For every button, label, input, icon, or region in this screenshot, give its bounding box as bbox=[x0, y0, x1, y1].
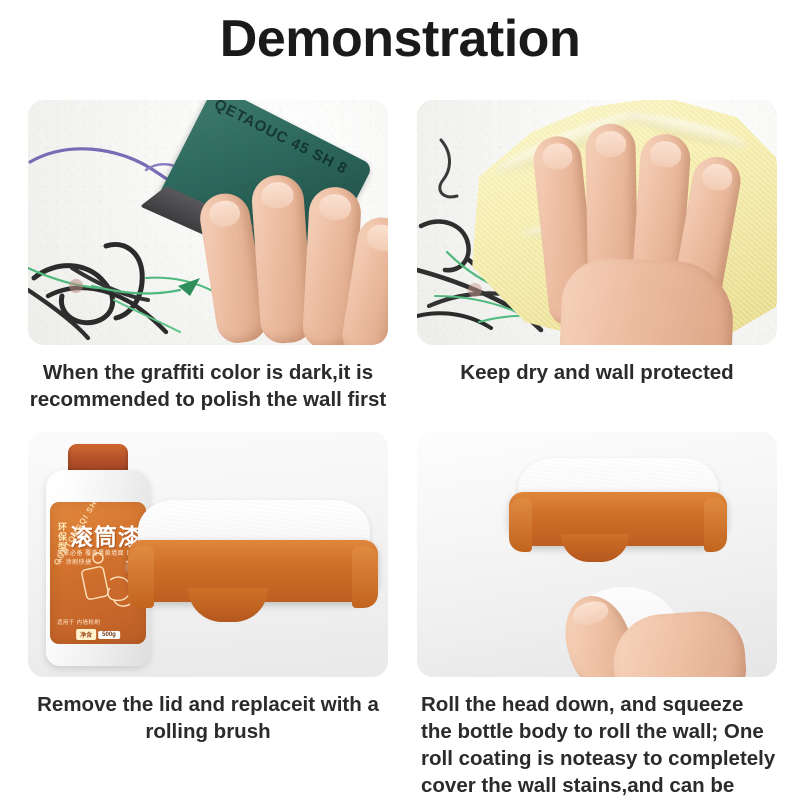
thumbnail bbox=[570, 598, 611, 629]
step-1-caption: When the graffiti color is dark,it is re… bbox=[28, 359, 388, 413]
hand-wiping-wall bbox=[535, 110, 760, 345]
roller-arm-right bbox=[704, 498, 727, 552]
demonstration-infographic: Demonstration bbox=[0, 0, 800, 800]
fingernail bbox=[207, 198, 242, 229]
fingernail bbox=[541, 142, 573, 171]
roller-neck bbox=[188, 588, 268, 622]
hand-holding-roller bbox=[567, 575, 752, 677]
step-3: 环保型 滚筒漆 居家必备 覆盖黑黄墙面 即刷即干 涂刷快捷 GUNTONGQI … bbox=[28, 432, 388, 745]
step-3-caption: Remove the lid and replaceit with a roll… bbox=[28, 691, 388, 745]
step-4-caption: Roll the head down, and squeeze the bott… bbox=[417, 691, 777, 800]
weight-label: 净含 bbox=[76, 629, 96, 640]
fingernail bbox=[365, 222, 388, 252]
photo-wiping-with-cloth bbox=[417, 100, 777, 345]
hand-palm bbox=[610, 609, 748, 677]
photo-bottle-with-roller: 环保型 滚筒漆 居家必备 覆盖黑黄墙面 即刷即干 涂刷快捷 GUNTONGQI … bbox=[28, 432, 388, 677]
photo-sanding-graffiti-wall: QETAOUC 45 SH 8 bbox=[28, 100, 388, 345]
step-2: Keep dry and wall protected bbox=[417, 100, 777, 386]
roller-arm-left bbox=[128, 546, 154, 608]
steps-grid: QETAOUC 45 SH 8 bbox=[0, 96, 800, 796]
fingernail bbox=[318, 193, 352, 221]
fingernail bbox=[261, 181, 295, 209]
hand-holding-sponge bbox=[194, 135, 388, 345]
label-footer: 适用于 内墙粉刷 bbox=[57, 618, 100, 626]
step-4: Roll the head down, and squeeze the bott… bbox=[417, 432, 777, 800]
roller-neck bbox=[561, 534, 629, 562]
roller-brush-head bbox=[128, 500, 378, 650]
roller-brush-head bbox=[509, 458, 727, 588]
fingernail bbox=[649, 140, 682, 168]
step-1: QETAOUC 45 SH 8 bbox=[28, 100, 388, 413]
roller-arm-left bbox=[509, 498, 532, 552]
page-title: Demonstration bbox=[0, 10, 800, 70]
fingernail bbox=[595, 131, 626, 158]
photo-roller-head-in-hand bbox=[417, 432, 777, 677]
fingernail bbox=[700, 162, 734, 193]
label-weight: 净含 500g bbox=[76, 629, 120, 640]
weight-value: 500g bbox=[98, 631, 120, 639]
step-2-caption: Keep dry and wall protected bbox=[417, 359, 777, 386]
roller-arm-right bbox=[352, 546, 378, 608]
